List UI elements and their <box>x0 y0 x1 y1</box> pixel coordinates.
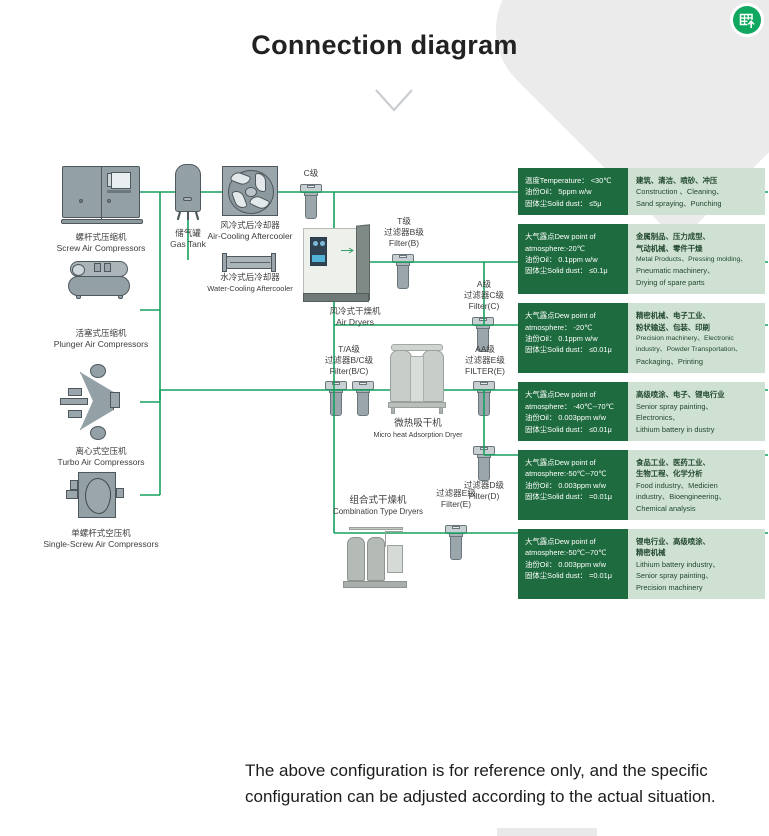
equipment-plunger-air-compressor <box>68 276 134 302</box>
combination-control-box <box>387 545 403 573</box>
aftercooler-tube <box>230 262 270 263</box>
dryer-base <box>303 293 369 302</box>
adsorption-valve-block <box>410 356 424 402</box>
spec-application-cell: 精密机械、电子工业、 粉状输送、包装、印刷 Precision machiner… <box>628 303 765 373</box>
spec-quality-cell: 大气露点Dew point of atmosphere:-50℃--70℃ 油份… <box>518 529 628 599</box>
adsorption-base-frame <box>388 402 446 408</box>
label-plunger-air-compressor: 活塞式压缩机 Plunger Air Compressors <box>22 328 180 350</box>
spec-application-cell: 高级喷涂、电子、锂电行业 Senior spray painting、 Elec… <box>628 382 765 441</box>
spec-application-cell: 建筑、清洁、喷砂、冲压 Construction 、Cleaning、 Sand… <box>628 168 765 215</box>
spec-row: 大气露点Dew point of atmosphere： -20℃ 油份Oil：… <box>518 303 765 373</box>
dryer-logo <box>340 241 356 248</box>
spec-quality-cell: 大气露点Dew point of atmosphere:-20℃ 油份Oil： … <box>518 224 628 294</box>
plunger-cylinder <box>94 263 101 272</box>
label-filter-c2: A级 过滤器C级 Filter(C) <box>448 279 520 312</box>
gas-tank-leg <box>187 211 189 220</box>
turbo-outlet <box>110 392 120 408</box>
dryer-indicator <box>320 241 325 246</box>
gas-tank-nozzle <box>183 197 192 201</box>
spec-row: 大气露点Dew point of atmosphere： -40℃--70℃ 油… <box>518 382 765 441</box>
compressor-bar <box>107 190 131 193</box>
label-filter-e2: 过滤器E级 Filter(E) <box>420 488 492 510</box>
label-single-screw-compressor: 单螺杆式空压机 Single-Screw Air Compressors <box>16 528 186 550</box>
spec-table: 温度Temperature： <30℃ 油份Oil： 5ppm w/w 固体尘S… <box>518 168 765 608</box>
dryer-indicator <box>313 241 318 246</box>
plunger-foot <box>76 295 81 299</box>
turbo-block <box>68 388 82 396</box>
adsorption-leg <box>439 407 443 414</box>
plunger-cylinder <box>104 263 111 272</box>
spec-row: 大气露点Dew point of atmosphere:-20℃ 油份Oil： … <box>518 224 765 294</box>
aftercooler-flange <box>222 253 227 272</box>
equipment-combination-type-dryer <box>345 535 407 589</box>
aftercooler-shell <box>226 256 274 269</box>
spec-application-cell: 锂电行业、高级喷涂、 精密机械 Lithium battery industry… <box>628 529 765 599</box>
label-filter-b: T级 过滤器B级 Filter(B) <box>368 216 440 249</box>
label-filter-bc: T/A级 过滤器B/C级 Filter(B/C) <box>310 344 388 377</box>
equipment-turbo-air-compressor <box>62 366 138 442</box>
aftercooler-flange <box>271 253 276 272</box>
dryer-display <box>312 255 325 262</box>
page-title: Connection diagram <box>0 30 769 61</box>
footer-note: The above configuration is for reference… <box>245 758 760 810</box>
equipment-water-cooling-aftercooler <box>226 256 274 269</box>
combination-tower <box>367 537 385 581</box>
spec-row: 大气露点Dew point of atmosphere:-50℃--70℃ 油份… <box>518 529 765 599</box>
compressor-base <box>61 219 143 224</box>
plunger-foot <box>118 295 123 299</box>
single-screw-rotor <box>85 478 111 514</box>
compressor-vent <box>107 173 112 187</box>
adsorption-tower <box>422 350 444 402</box>
combination-tower <box>347 537 365 581</box>
single-screw-port <box>116 488 124 498</box>
compressor-window <box>111 172 131 189</box>
label-water-cooling-aftercooler: 水冷式后冷却器 Water-Cooling Aftercooler <box>186 272 314 294</box>
adsorption-leg <box>391 407 395 414</box>
compressor-door-divider <box>101 167 102 219</box>
spec-quality-cell: 大气露点Dew point of atmosphere： -20℃ 油份Oil：… <box>518 303 628 373</box>
spec-quality-cell: 温度Temperature： <30℃ 油份Oil： 5ppm w/w 固体尘S… <box>518 168 628 215</box>
turbo-shaft <box>60 398 88 405</box>
turbo-bottom-cap <box>90 426 106 440</box>
single-screw-port <box>70 480 78 490</box>
fan-hub <box>245 187 257 197</box>
equipment-single-screw-compressor <box>78 472 116 518</box>
turbo-block <box>68 410 82 418</box>
equipment-micro-heat-adsorption-dryer <box>390 348 446 414</box>
spec-row: 大气露点Dew point of atmosphere:-50℃--70℃ 油份… <box>518 450 765 520</box>
label-air-cooling-aftercooler: 风冷式后冷却器 Air-Cooling Aftercooler <box>198 220 302 242</box>
plunger-tank <box>68 276 130 296</box>
single-screw-inlet <box>66 490 78 499</box>
compressor-knob <box>79 199 83 203</box>
combination-pipe-bend <box>385 531 403 547</box>
equipment-air-cooling-aftercooler <box>222 166 278 216</box>
fan-blade <box>255 173 266 192</box>
spec-quality-cell: 大气露点Dew point of atmosphere： -40℃--70℃ 油… <box>518 382 628 441</box>
footer-decoration-bar <box>497 828 597 836</box>
chevron-down-icon <box>374 88 414 119</box>
equipment-gas-tank <box>175 164 201 212</box>
plunger-flywheel <box>72 264 85 276</box>
turbo-top-cap <box>90 364 106 378</box>
spec-application-cell: 金属制品、压力成型、 气动机械、零件干燥 Metal Products、Pres… <box>628 224 765 294</box>
combination-header-pipe <box>349 527 403 530</box>
spec-quality-cell: 大气露点Dew point of atmosphere:-50℃--70℃ 油份… <box>518 450 628 520</box>
spec-row: 温度Temperature： <30℃ 油份Oil： 5ppm w/w 固体尘S… <box>518 168 765 215</box>
label-filter-e: AA级 过滤器E级 FILTER(E) <box>448 344 522 377</box>
spreadsheet-upload-icon[interactable] <box>733 6 761 34</box>
label-filter-c-grade: C级 <box>288 168 334 179</box>
adsorption-tower <box>390 350 412 402</box>
label-air-dryer: 风冷式干燥机 Air Dryers <box>300 306 410 328</box>
equipment-screw-air-compressor <box>62 166 140 218</box>
label-turbo-air-compressor: 离心式空压机 Turbo Air Compressors <box>22 446 180 468</box>
compressor-knob <box>107 199 111 203</box>
gas-tank-shell <box>175 164 201 212</box>
label-micro-heat-adsorption-dryer: 微热吸干机 Micro heat Adsorption Dryer <box>358 418 478 440</box>
spec-application-cell: 食品工业、医药工业、 生物工程、化学分析 Food industry、Medic… <box>628 450 765 520</box>
combination-base-frame <box>343 581 407 588</box>
